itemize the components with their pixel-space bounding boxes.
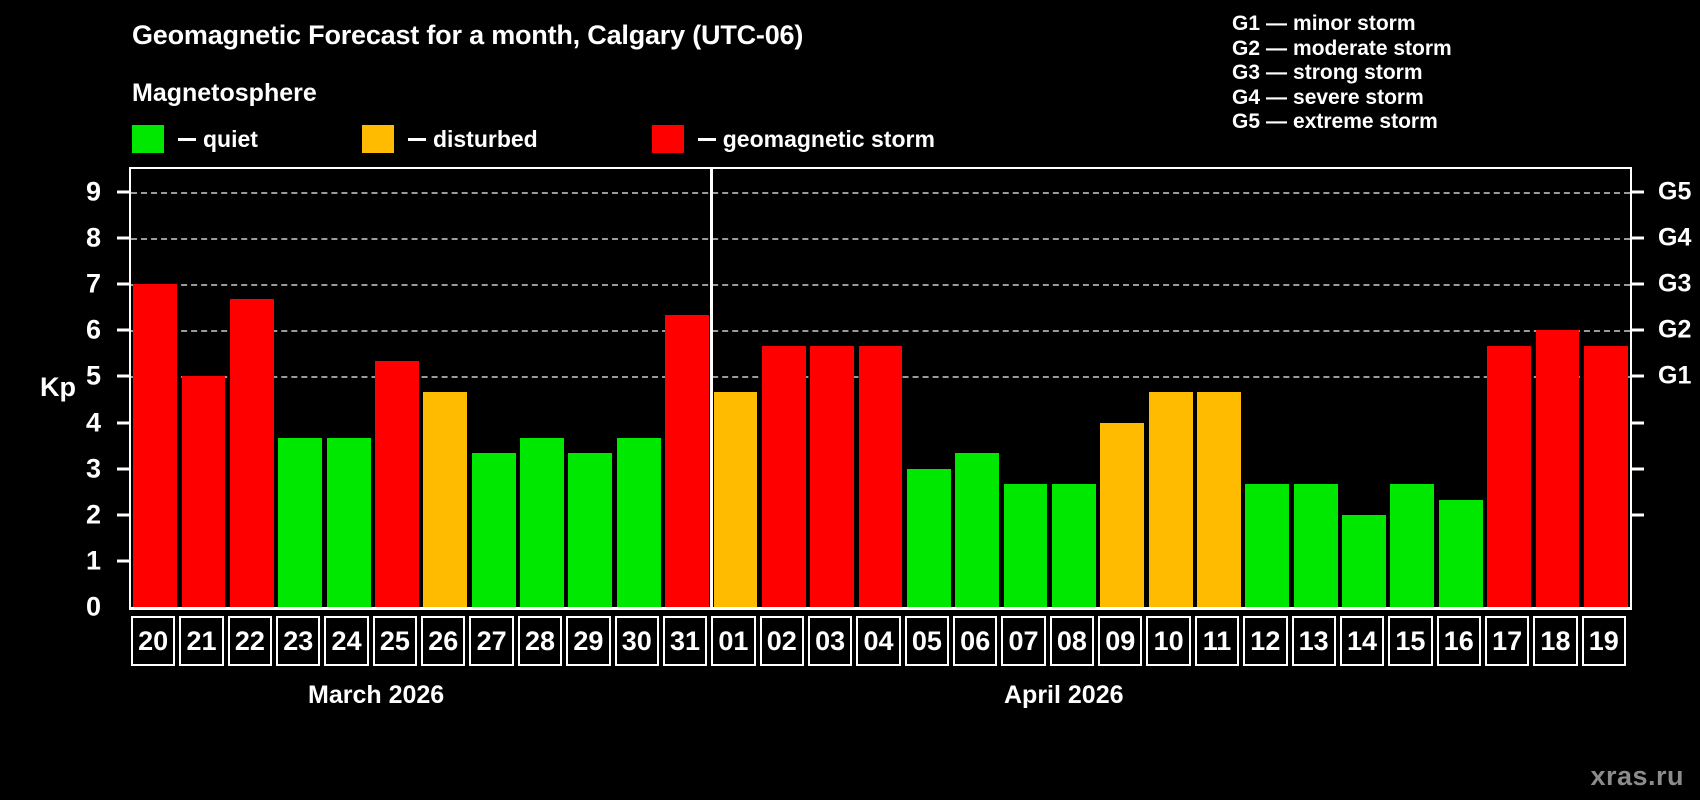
g-separator-dash: — (1266, 61, 1287, 86)
g-legend-row-g5: G5—extreme storm (1232, 110, 1452, 135)
legend-label-quiet: quiet (203, 126, 258, 153)
day-label-29: 29 (566, 616, 610, 666)
bars-layer (131, 169, 1630, 607)
bar-day-05[interactable] (907, 469, 951, 607)
g-legend-row-g4: G4—severe storm (1232, 86, 1452, 111)
g-tick-mark-g1 (1632, 375, 1644, 378)
g-code-g3: G3 (1232, 61, 1260, 86)
bar-day-11[interactable] (1197, 392, 1241, 607)
day-label-04: 04 (856, 616, 900, 666)
legend-entry-quiet: quiet (132, 125, 258, 153)
plot-frame (129, 167, 1632, 610)
x-axis-day-labels: 2021222324252627282930310102030405060708… (129, 616, 1632, 666)
bar-day-12[interactable] (1245, 484, 1289, 607)
legend-dash-icon (178, 138, 196, 141)
month-label-april: April 2026 (1004, 681, 1124, 710)
y-axis-g-scale: G1G2G3G4G5 (1632, 167, 1700, 610)
g-minor-tick-mark-2 (1632, 513, 1644, 516)
legend-entry-geomagnetic-storm: geomagnetic storm (652, 125, 935, 153)
g-separator-dash: — (1266, 86, 1287, 111)
y-tick-mark-6 (117, 329, 129, 332)
g-tick-label-g1: G1 (1658, 362, 1691, 391)
day-label-08: 08 (1050, 616, 1094, 666)
g-code-g5: G5 (1232, 110, 1260, 135)
bar-day-02[interactable] (762, 346, 806, 607)
g-tick-mark-g4 (1632, 237, 1644, 240)
y-tick-mark-2 (117, 513, 129, 516)
bar-day-24[interactable] (327, 438, 371, 607)
day-label-16: 16 (1437, 616, 1481, 666)
magnetosphere-label: Magnetosphere (132, 79, 317, 108)
day-label-24: 24 (324, 616, 368, 666)
y-tick-mark-1 (117, 559, 129, 562)
day-label-20: 20 (131, 616, 175, 666)
g-code-g4: G4 (1232, 86, 1260, 111)
bar-day-17[interactable] (1487, 346, 1531, 607)
g-tick-label-g4: G4 (1658, 224, 1691, 253)
y-tick-label-9: 9 (86, 177, 101, 208)
y-tick-mark-7 (117, 283, 129, 286)
bar-day-04[interactable] (859, 346, 903, 607)
day-label-09: 09 (1098, 616, 1142, 666)
bar-day-18[interactable] (1536, 330, 1580, 607)
day-label-05: 05 (905, 616, 949, 666)
bar-day-01[interactable] (714, 392, 758, 607)
bar-day-10[interactable] (1149, 392, 1193, 607)
day-label-22: 22 (228, 616, 272, 666)
bar-day-07[interactable] (1004, 484, 1048, 607)
bar-day-08[interactable] (1052, 484, 1096, 607)
g-description-g1: minor storm (1293, 12, 1416, 37)
day-label-19: 19 (1582, 616, 1626, 666)
day-label-31: 31 (663, 616, 707, 666)
g-separator-dash: — (1266, 37, 1287, 62)
bar-day-06[interactable] (955, 453, 999, 607)
day-label-01: 01 (711, 616, 755, 666)
g-code-g1: G1 (1232, 12, 1260, 37)
bar-day-27[interactable] (472, 453, 516, 607)
bar-day-22[interactable] (230, 299, 274, 607)
y-tick-mark-9 (117, 191, 129, 194)
legend-dash-icon (408, 138, 426, 141)
day-label-14: 14 (1340, 616, 1384, 666)
legend-label-disturbed: disturbed (433, 126, 538, 153)
g-tick-mark-g2 (1632, 329, 1644, 332)
g-description-g4: severe storm (1293, 86, 1424, 111)
g-legend-row-g1: G1—minor storm (1232, 12, 1452, 37)
y-tick-label-8: 8 (86, 223, 101, 254)
day-label-28: 28 (518, 616, 562, 666)
g-tick-label-g3: G3 (1658, 270, 1691, 299)
day-label-10: 10 (1146, 616, 1190, 666)
bar-day-25[interactable] (375, 361, 419, 607)
legend-swatch-quiet (132, 125, 164, 153)
legend-swatch-geomagnetic-storm (652, 125, 684, 153)
legend-swatch-disturbed (362, 125, 394, 153)
g-tick-label-g2: G2 (1658, 316, 1691, 345)
bar-day-30[interactable] (617, 438, 661, 607)
month-divider (710, 169, 713, 607)
day-label-03: 03 (808, 616, 852, 666)
legend-dash-icon (698, 138, 716, 141)
day-label-18: 18 (1533, 616, 1577, 666)
day-label-12: 12 (1243, 616, 1287, 666)
month-label-march: March 2026 (308, 681, 444, 710)
day-label-02: 02 (760, 616, 804, 666)
bar-day-15[interactable] (1390, 484, 1434, 607)
color-legend: quietdisturbedgeomagnetic storm (132, 124, 935, 154)
g-separator-dash: — (1266, 12, 1287, 37)
legend-label-geomagnetic-storm: geomagnetic storm (723, 126, 935, 153)
y-tick-label-5: 5 (86, 361, 101, 392)
g-minor-tick-mark-4 (1632, 421, 1644, 424)
g-legend-row-g2: G2—moderate storm (1232, 37, 1452, 62)
g-tick-mark-g5 (1632, 191, 1644, 194)
y-tick-mark-4 (117, 421, 129, 424)
legend-entry-disturbed: disturbed (362, 125, 538, 153)
bar-day-23[interactable] (278, 438, 322, 607)
y-tick-label-4: 4 (86, 407, 101, 438)
y-tick-label-1: 1 (86, 545, 101, 576)
g-tick-mark-g3 (1632, 283, 1644, 286)
y-tick-label-6: 6 (86, 315, 101, 346)
day-label-23: 23 (276, 616, 320, 666)
bar-day-16[interactable] (1439, 500, 1483, 607)
day-label-06: 06 (953, 616, 997, 666)
day-label-30: 30 (615, 616, 659, 666)
bar-day-03[interactable] (810, 346, 854, 607)
bar-day-29[interactable] (568, 453, 612, 607)
y-axis-title: Kp (40, 372, 76, 403)
y-tick-mark-8 (117, 237, 129, 240)
bar-day-13[interactable] (1294, 484, 1338, 607)
y-tick-label-7: 7 (86, 269, 101, 300)
bar-day-14[interactable] (1342, 515, 1386, 607)
day-label-21: 21 (179, 616, 223, 666)
bar-day-19[interactable] (1584, 346, 1628, 607)
g-separator-dash: — (1266, 110, 1287, 135)
day-label-17: 17 (1485, 616, 1529, 666)
bar-day-21[interactable] (182, 376, 226, 607)
page-title: Geomagnetic Forecast for a month, Calgar… (132, 20, 803, 51)
g-description-g2: moderate storm (1293, 37, 1452, 62)
g-code-g2: G2 (1232, 37, 1260, 62)
day-label-11: 11 (1195, 616, 1239, 666)
bar-day-31[interactable] (665, 315, 709, 607)
y-tick-mark-5 (117, 375, 129, 378)
bar-day-26[interactable] (423, 392, 467, 607)
plot-area (131, 169, 1630, 607)
day-label-25: 25 (373, 616, 417, 666)
g-tick-label-g5: G5 (1658, 178, 1691, 207)
y-tick-label-0: 0 (86, 592, 101, 623)
g-minor-tick-mark-3 (1632, 467, 1644, 470)
bar-day-09[interactable] (1100, 423, 1144, 607)
g-scale-legend: G1—minor stormG2—moderate stormG3—strong… (1232, 12, 1452, 135)
day-label-15: 15 (1388, 616, 1432, 666)
g-legend-row-g3: G3—strong storm (1232, 61, 1452, 86)
y-tick-label-2: 2 (86, 499, 101, 530)
bar-day-20[interactable] (133, 284, 177, 607)
day-label-27: 27 (469, 616, 513, 666)
day-label-07: 07 (1001, 616, 1045, 666)
g-description-g5: extreme storm (1293, 110, 1438, 135)
day-label-13: 13 (1292, 616, 1336, 666)
bar-day-28[interactable] (520, 438, 564, 607)
y-tick-label-3: 3 (86, 453, 101, 484)
day-label-26: 26 (421, 616, 465, 666)
y-tick-mark-3 (117, 467, 129, 470)
watermark: xras.ru (1590, 761, 1684, 792)
g-description-g3: strong storm (1293, 61, 1423, 86)
